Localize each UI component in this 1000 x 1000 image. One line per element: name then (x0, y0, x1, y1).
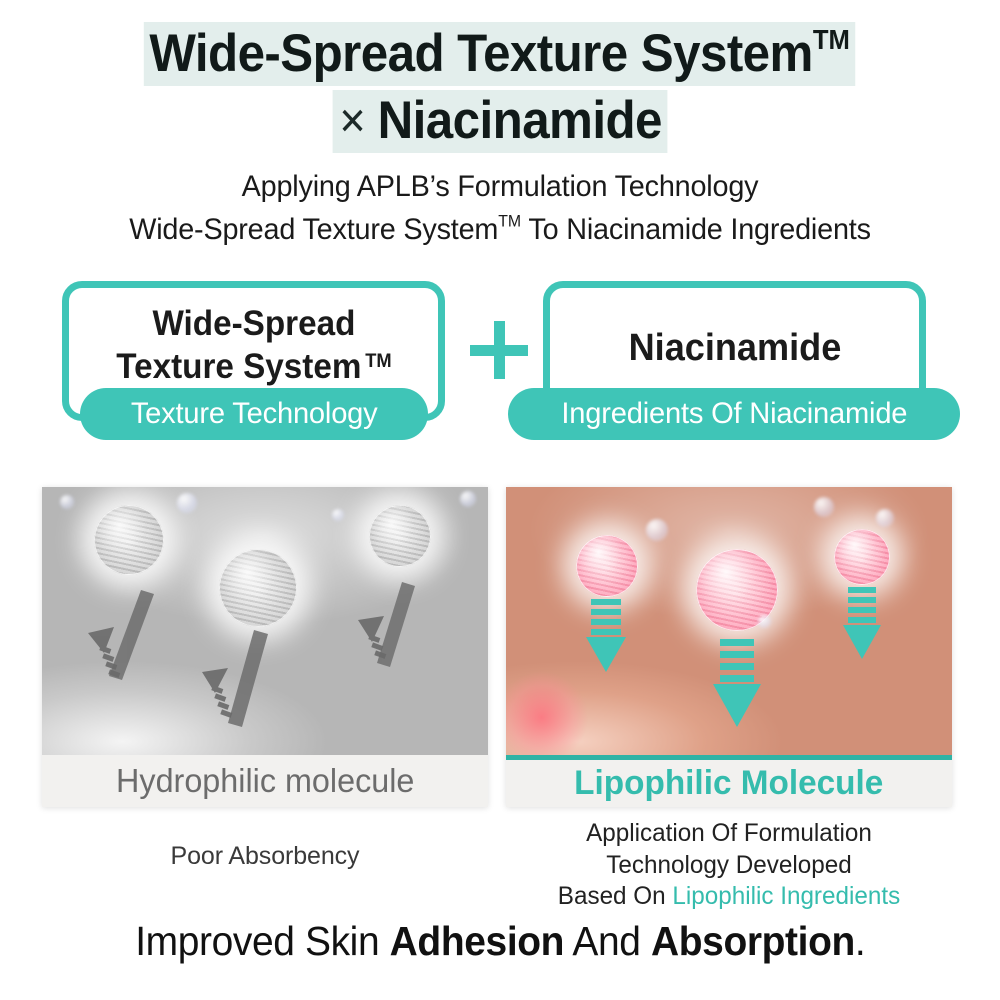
texture-technology-pill-label: Texture Technology (131, 397, 378, 431)
title-text-1: Wide-Spread Texture System (150, 24, 813, 83)
title-highlight-2: ✕Niacinamide (333, 90, 668, 153)
footer-bold-adhesion: Adhesion (389, 918, 563, 964)
title-text-2: Niacinamide (378, 91, 662, 150)
plus-icon (470, 321, 528, 379)
ingredients-of-niacinamide-pill-label: Ingredients Of Niacinamide (561, 397, 907, 431)
subtitle-line-2-part-2: To Niacinamide Ingredients (521, 213, 871, 246)
footer-part-1: Improved Skin (135, 918, 389, 964)
lipophilic-caption-line-2: Technology Developed (513, 850, 946, 882)
hydrophilic-caption: Poor Absorbency (42, 842, 488, 871)
niacinamide-heading: Niacinamide (628, 325, 841, 371)
texture-system-heading-line-2: Texture System (116, 347, 361, 386)
lipophilic-caption-line-3: Based On Lipophilic Ingredients (513, 881, 946, 913)
subtitle-line-1: Applying APLB’s Formulation Technology (20, 166, 980, 209)
down-arrow-3 (843, 587, 881, 659)
page-title: Wide-Spread Texture SystemTM ✕Niacinamid… (0, 22, 1000, 153)
footer-statement: Improved Skin Adhesion And Absorption. (0, 918, 1000, 965)
rejection-arrows (42, 487, 488, 755)
texture-system-heading-line-1: Wide-Spread (152, 304, 355, 343)
ingredients-of-niacinamide-pill: Ingredients Of Niacinamide (508, 388, 960, 440)
trademark-icon: TM (498, 212, 521, 230)
footer-part-3: . (855, 918, 865, 964)
title-line-1: Wide-Spread Texture SystemTM (0, 22, 1000, 86)
hydrophilic-caption-text: Poor Absorbency (171, 842, 360, 870)
lipophilic-illustration (506, 487, 952, 755)
footer-part-2: And (564, 918, 651, 964)
lipophilic-ingredients-highlight: Lipophilic Ingredients (672, 882, 900, 910)
subtitle-line-2-part-1: Wide-Spread Texture System (129, 213, 498, 246)
promo-infographic: Wide-Spread Texture SystemTM ✕Niacinamid… (0, 0, 1000, 1000)
texture-system-heading: Wide-Spread Texture SystemTM (116, 303, 391, 388)
lipophilic-caption-line-1: Application Of Formulation (513, 818, 946, 850)
hydrophilic-label: Hydrophilic molecule (42, 755, 488, 807)
tail-bar-2 (228, 630, 268, 727)
times-icon: ✕ (338, 101, 377, 142)
lipophilic-panel: Lipophilic Molecule (506, 487, 952, 807)
texture-technology-pill: Texture Technology (80, 388, 428, 440)
footer-wrap: Improved Skin Adhesion And Absorption. (135, 918, 865, 965)
down-arrow-1 (586, 599, 626, 672)
hydrophilic-panel: Hydrophilic molecule (42, 487, 488, 807)
lipophilic-label-text: Lipophilic Molecule (574, 764, 883, 803)
absorption-arrows (506, 487, 952, 755)
down-arrow-2 (713, 639, 761, 727)
lipophilic-label: Lipophilic Molecule (506, 755, 952, 807)
trademark-icon: TM (813, 24, 850, 55)
footer-bold-absorption: Absorption (651, 918, 855, 964)
trademark-icon: TM (361, 351, 391, 372)
hydrophilic-illustration (42, 487, 488, 755)
title-highlight-1: Wide-Spread Texture SystemTM (144, 22, 856, 86)
subtitle-line-2: Wide-Spread Texture SystemTM To Niacinam… (20, 209, 980, 252)
lipophilic-caption: Application Of Formulation Technology De… (506, 818, 952, 913)
lipophilic-caption-line-3-prefix: Based On (558, 882, 673, 910)
title-line-2: ✕Niacinamide (0, 90, 1000, 153)
formula-equation: Wide-Spread Texture SystemTM Niacinamide… (0, 281, 1000, 466)
hydrophilic-label-text: Hydrophilic molecule (116, 762, 414, 800)
subtitle: Applying APLB’s Formulation Technology W… (0, 166, 1000, 251)
